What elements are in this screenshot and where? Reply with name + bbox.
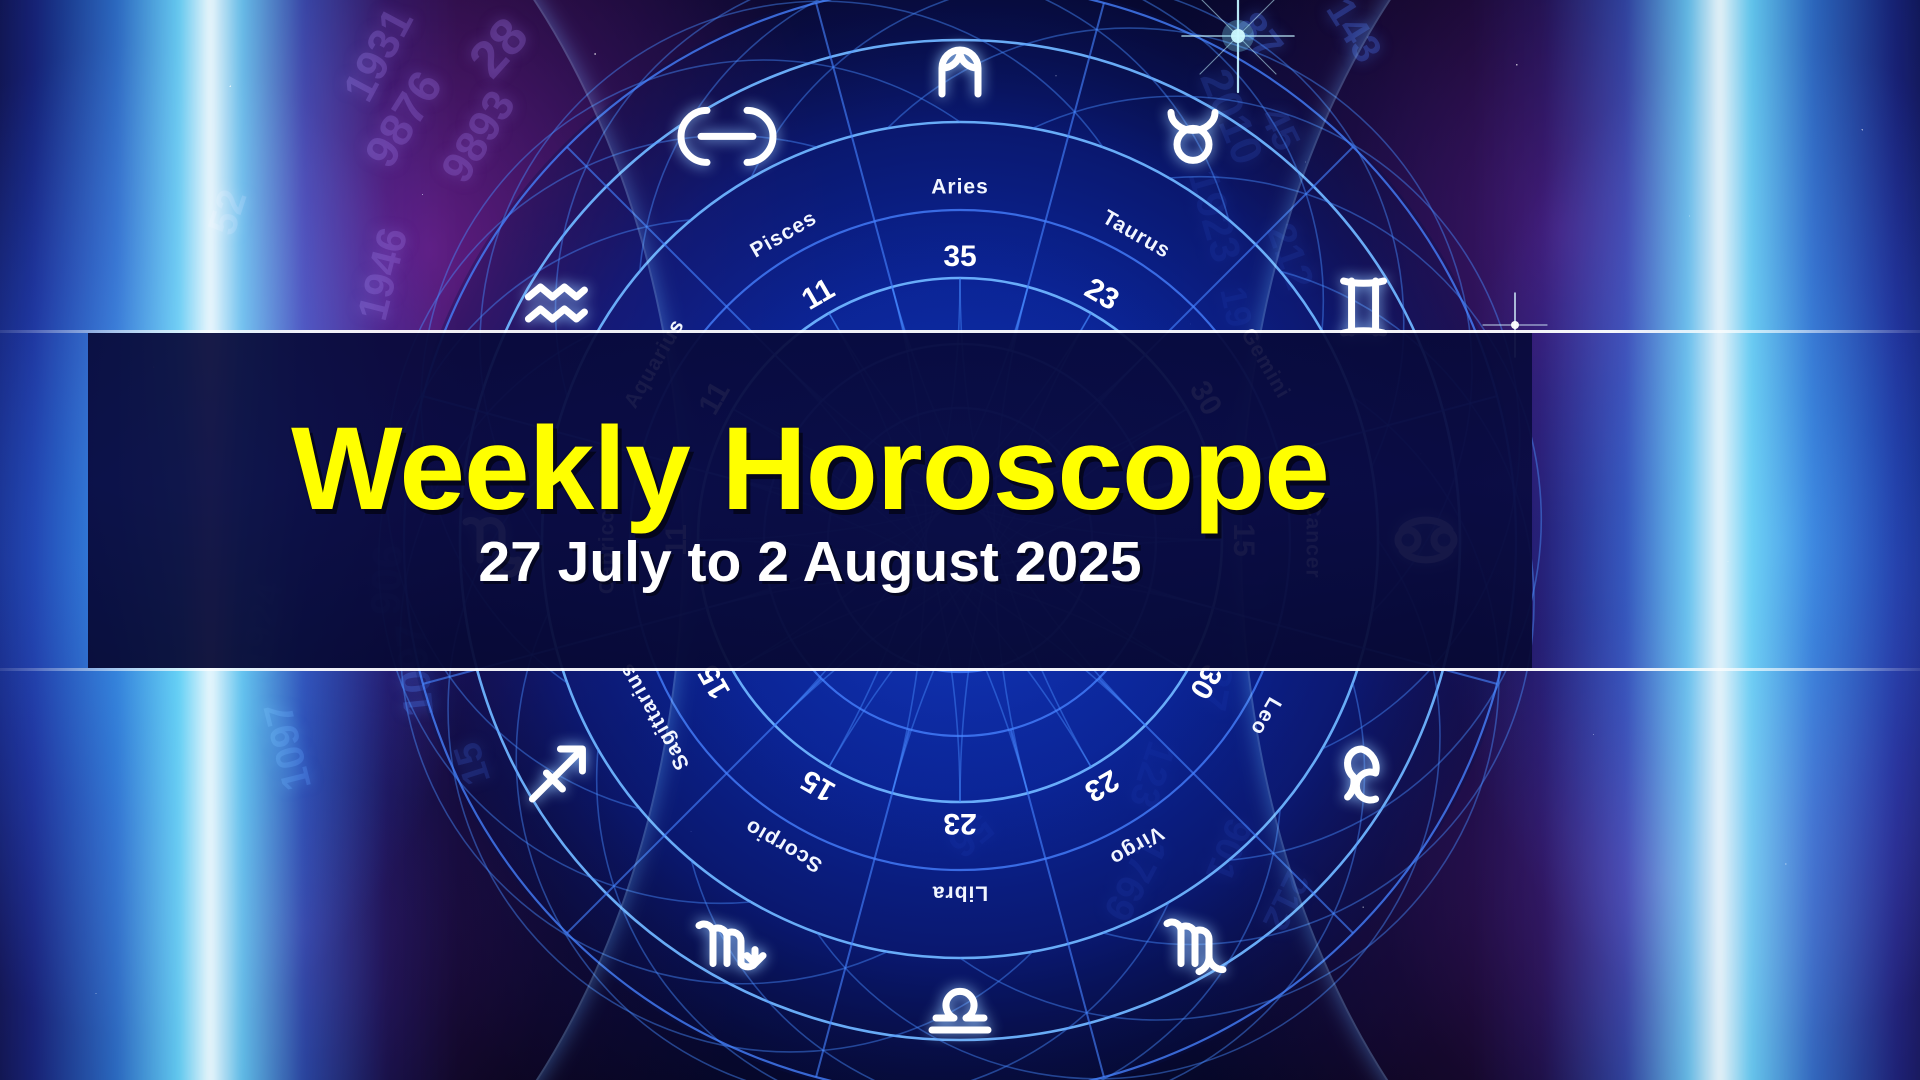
banner-bottom-rule bbox=[0, 668, 1920, 671]
date-range-subtitle: 27 July to 2 August 2025 bbox=[478, 534, 1141, 591]
title-banner: Weekly Horoscope 27 July to 2 August 202… bbox=[88, 333, 1532, 668]
horoscope-banner-image: 1931289876989352194687143201045192321219… bbox=[0, 0, 1920, 1080]
banner-top-rule bbox=[0, 330, 1920, 333]
zodiac-number-libra: 23 bbox=[943, 807, 976, 840]
page-title: Weekly Horoscope bbox=[291, 410, 1329, 528]
zodiac-name-libra: Libra bbox=[932, 881, 988, 904]
zodiac-number-aries: 35 bbox=[943, 240, 976, 273]
zodiac-name-aries: Aries bbox=[931, 176, 989, 199]
